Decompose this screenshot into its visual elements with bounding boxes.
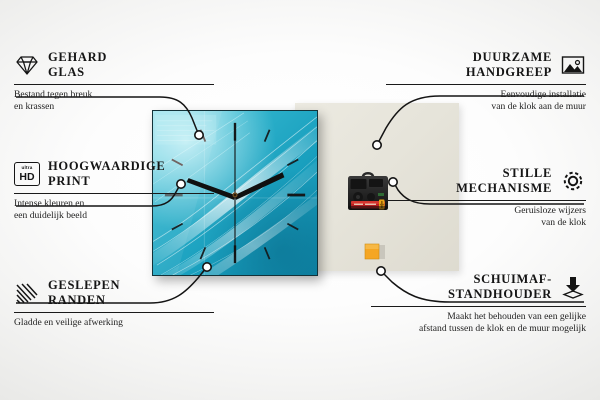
divider [386,84,586,85]
press-down-arrow-icon [560,275,586,299]
feature-title: HOOGWAARDIGE PRINT [48,159,165,190]
feature-title: STILLE MECHANISME [456,166,552,197]
feature-description: Maakt het behouden van een gelijke afsta… [371,311,586,336]
ultra-hd-icon: ultra HD [14,162,40,186]
divider [371,306,586,307]
feature-description: Geruisloze wijzers van de klok [386,205,586,230]
divider [14,312,214,313]
feature-schuimaf-standhouder: SCHUIMAF- STANDHOUDER Maakt het behouden… [371,272,586,335]
feature-description: Intense kleuren en een duidelijk beeld [14,198,214,223]
feature-header: ultra HD HOOGWAARDIGE PRINT [14,159,214,190]
feature-description: Gladde en veilige afwerking [14,317,214,329]
feature-title: GESLEPEN RANDEN [48,278,120,309]
feature-title: DUURZAME HANDGREEP [466,50,552,81]
feature-hoogwaardige-print: ultra HD HOOGWAARDIGE PRINT Intense kleu… [14,159,214,222]
feature-header: DUURZAME HANDGREEP [386,50,586,81]
feature-header: GEHARD GLAS [14,50,214,81]
feature-title: GEHARD GLAS [48,50,107,81]
feature-description: Eenvoudige installatie van de klok aan d… [386,89,586,114]
diamond-icon [14,53,40,77]
foam-standoff-part [364,243,386,264]
gear-icon [560,169,586,193]
feature-header: SCHUIMAF- STANDHOUDER [371,272,586,303]
framed-picture-icon [560,53,586,77]
bevelled-edges-icon [14,281,40,305]
feature-geslepen-randen: GESLEPEN RANDEN Gladde en veilige afwerk… [14,278,214,329]
feature-description: Bestand tegen breuk en krassen [14,89,214,114]
divider [14,84,214,85]
feature-header: GESLEPEN RANDEN [14,278,214,309]
feature-title: SCHUIMAF- STANDHOUDER [448,272,552,303]
feature-stille-mechanisme: STILLE MECHANISME Geruisloze wijzers van… [386,166,586,229]
clock-movement-part [345,170,391,214]
divider [14,193,214,194]
feature-duurzame-handgreep: DUURZAME HANDGREEP Eenvoudige installati… [386,50,586,113]
feature-gehard-glas: GEHARD GLAS Bestand tegen breuk en krass… [14,50,214,113]
feature-header: STILLE MECHANISME [386,166,586,197]
divider [386,200,586,201]
ultra-hd-large-text: HD [19,172,34,183]
